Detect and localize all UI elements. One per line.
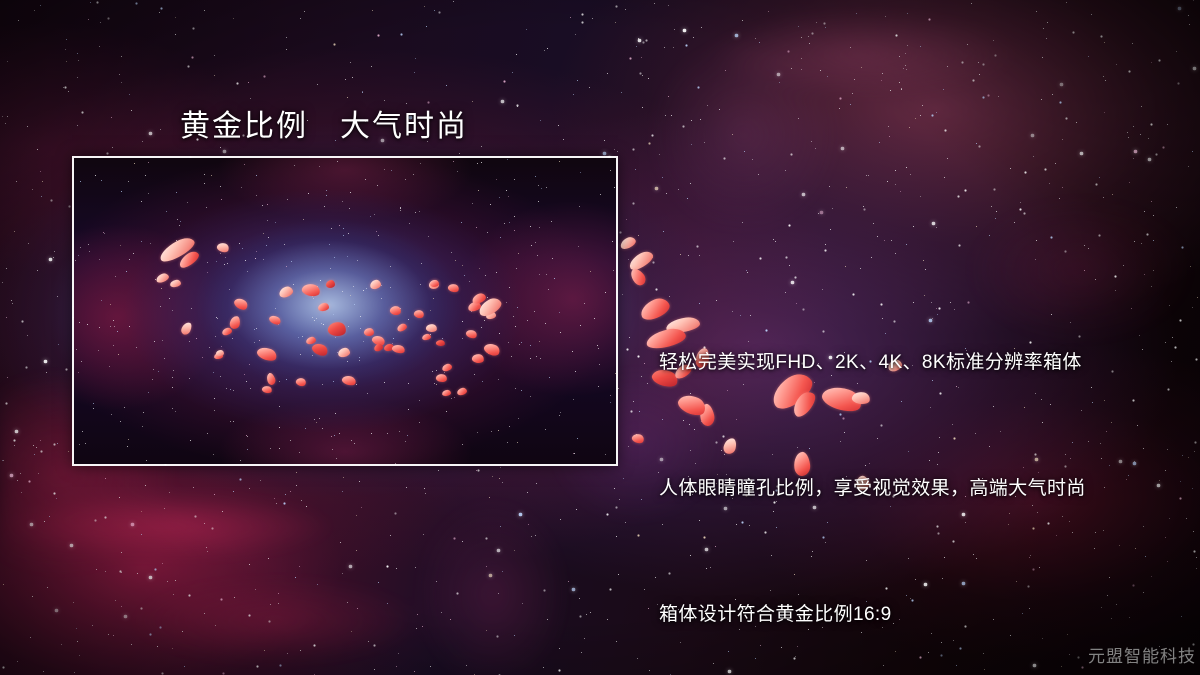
description-block: 轻松完美实现FHD、2K、4K、8K标准分辨率箱体 人体眼睛瞳孔比例，享受视觉效… [659, 258, 1086, 675]
watermark-label: 元盟智能科技 [1088, 642, 1196, 667]
slide-canvas: 黄金比例 大气时尚 轻松完美实现FHD、2K、4K、8K标准分辨率箱体 人体眼睛… [0, 0, 1200, 675]
screen-nebula-image [74, 158, 616, 464]
led-screen-preview[interactable] [72, 156, 618, 466]
description-line-2: 人体眼睛瞳孔比例，享受视觉效果，高端大气时尚 [659, 468, 1086, 510]
petal [216, 350, 224, 356]
page-title: 黄金比例 大气时尚 [180, 101, 468, 145]
description-line-1: 轻松完美实现FHD、2K、4K、8K标准分辨率箱体 [659, 342, 1086, 384]
screen-star-field [74, 158, 75, 159]
petal [430, 280, 439, 287]
description-line-3: 箱体设计符合黄金比例16:9 [659, 594, 1086, 636]
petal [326, 280, 335, 288]
